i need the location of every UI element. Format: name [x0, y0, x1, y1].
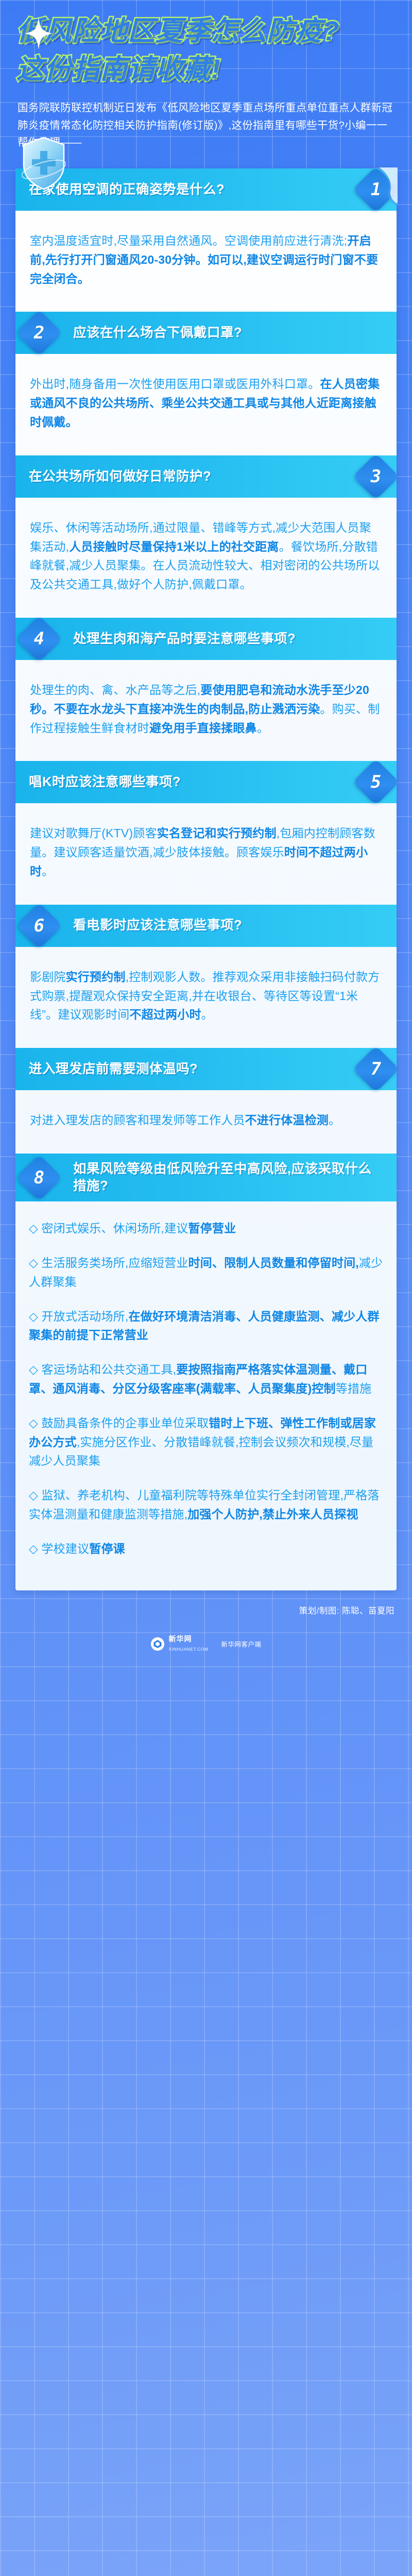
- section-1-body: 室内温度适宜时,尽量采用自然通风。空调使用前应进行清洗;开启前,先行打开门窗通风…: [15, 211, 397, 312]
- logo-subtitle: XINHUANET.COM: [169, 1647, 209, 1652]
- diamond-bullet-icon: ◇: [29, 1256, 38, 1269]
- list-item: ◇ 鼓励具备条件的企事业单位采取错时上下班、弹性工作制或居家办公方式,实施分区作…: [29, 1414, 383, 1470]
- section-7-number-badge: 7: [353, 1046, 400, 1093]
- credit-line: 策划/制图: 陈聪、苗夏阳: [0, 1604, 394, 1616]
- bullet-plain-1: 客运场站和公共交通工具,: [38, 1363, 176, 1376]
- list-item: ◇ 开放式活动场所,在做好环境清洁消毒、人员健康监测、减少人群聚集的前提下正常营…: [29, 1307, 383, 1345]
- section-4-number-badge: 4: [16, 616, 63, 663]
- section-4-body: 处理生的肉、禽、水产品等之后,要使用肥皂和流动水洗手至少20秒。不要在水龙头下直…: [15, 660, 397, 761]
- section-6-text-plain-3: 。: [201, 1008, 213, 1021]
- section-6-title: 看电影时应该注意哪些事项?: [73, 917, 242, 934]
- section-5-number: 5: [359, 766, 392, 799]
- hero-section: 低风险地区夏季怎么防疫? 这份指南请收藏! 国务院联防联控机制近日发布《低风险地…: [0, 0, 412, 151]
- section-4-title: 处理生肉和海产品时要注意哪些事项?: [73, 631, 296, 648]
- section-8-bullet-list: ◇ 密闭式娱乐、休闲场所,建议暂停营业 ◇ 生活服务类场所,应缩短营业时间、限制…: [15, 1201, 397, 1581]
- section-3-number-badge: 3: [353, 453, 400, 500]
- section-3-text-bold-1: 人员接触时尽量保持1米以上的社交距离: [69, 540, 279, 553]
- section-5-body: 建议对歌舞厅(KTV)顾客实名登记和实行预约制,包厢内控制顾客数量。建议顾客适量…: [15, 803, 397, 904]
- section-2-body: 外出时,随身备用一次性使用医用口罩或医用外科口罩。在人员密集或通风不良的公共场所…: [15, 354, 397, 455]
- list-item: ◇ 密闭式娱乐、休闲场所,建议暂停营业: [29, 1219, 383, 1238]
- section-4-text-plain-1: 处理生的肉、禽、水产品等之后,: [30, 683, 200, 697]
- section-8-number-badge: 8: [16, 1154, 63, 1201]
- section-1-header: 在家使用空调的正确姿势是什么? 1: [15, 168, 397, 211]
- xinhua-logo-icon: [151, 1637, 164, 1651]
- brand-logo-bar: 新华网 XINHUANET.COM 新华网客户端: [0, 1635, 412, 1666]
- bullet-bold-1: 加强个人防护,禁止外来人员探视: [187, 1507, 358, 1521]
- title-line-2: 这份指南请收藏!: [16, 53, 396, 87]
- diamond-bullet-icon: ◇: [29, 1542, 38, 1555]
- section-7-body: 对进入理发店的顾客和理发师等工作人员不进行体温检测。: [15, 1090, 397, 1154]
- page-curl-decoration: [357, 167, 398, 206]
- section-5: 唱K时应该注意哪些事项? 5 建议对歌舞厅(KTV)顾客实名登记和实行预约制,包…: [15, 761, 397, 904]
- section-1: 在家使用空调的正确姿势是什么? 1 室内温度适宜时,尽量采用自然通风。空调使用前…: [15, 168, 397, 312]
- bullet-bold-1: 时间、限制人员数量和停留时间,: [188, 1256, 358, 1269]
- section-2: 2 应该在什么场合下佩戴口罩? 外出时,随身备用一次性使用医用口罩或医用外科口罩…: [15, 312, 397, 455]
- xinhua-logo-text: 新华网 XINHUANET.COM: [169, 1635, 209, 1654]
- section-7-text-plain-1: 对进入理发店的顾客和理发师等工作人员: [30, 1113, 245, 1127]
- section-4-text-plain-3: 。: [257, 721, 269, 735]
- bullet-plain-1: 开放式活动场所,: [38, 1310, 129, 1323]
- section-2-header: 2 应该在什么场合下佩戴口罩?: [15, 312, 397, 354]
- footer-credit-block: 策划/制图: 陈聪、苗夏阳: [0, 1590, 412, 1621]
- content-card: 在家使用空调的正确姿势是什么? 1 室内温度适宜时,尽量采用自然通风。空调使用前…: [15, 168, 397, 1590]
- section-2-text-plain: 外出时,随身备用一次性使用医用口罩或医用外科口罩。: [30, 377, 320, 391]
- section-6-text-plain-1: 影剧院: [30, 970, 66, 984]
- bullet-plain-1: 鼓励具备条件的企事业单位采取: [38, 1416, 209, 1430]
- section-7: 进入理发店前需要测体温吗? 7 对进入理发店的顾客和理发师等工作人员不进行体温检…: [15, 1048, 397, 1154]
- section-2-title: 应该在什么场合下佩戴口罩?: [73, 325, 242, 342]
- list-item: ◇ 生活服务类场所,应缩短营业时间、限制人员数量和停留时间,减少人群聚集: [29, 1253, 383, 1292]
- section-8-title: 如果风险等级由低风险升至中高风险,应该采取什么措施?: [73, 1161, 383, 1194]
- infographic-page: 低风险地区夏季怎么防疫? 这份指南请收藏! 国务院联防联控机制近日发布《低风险地…: [0, 0, 412, 1666]
- list-item: ◇ 监狱、养老机构、儿童福利院等特殊单位实行全封闭管理,严格落实体温测量和健康监…: [29, 1486, 383, 1524]
- list-item: ◇ 学校建议暂停课: [29, 1539, 383, 1558]
- section-2-number-badge: 2: [16, 310, 63, 357]
- section-6-text-bold-2: 不超过两小时: [129, 1008, 201, 1021]
- section-7-text-plain-2: 。: [329, 1113, 340, 1127]
- section-7-number: 7: [359, 1053, 392, 1086]
- section-7-header: 进入理发店前需要测体温吗? 7: [15, 1048, 397, 1090]
- page-title: 低风险地区夏季怎么防疫? 这份指南请收藏!: [0, 14, 412, 86]
- section-3-title: 在公共场所如何做好日常防护?: [29, 468, 211, 485]
- section-6: 6 看电影时应该注意哪些事项? 影剧院实行预约制,控制观影人数。推荐观众采用非接…: [15, 905, 397, 1048]
- section-5-text-plain-3: 。: [42, 865, 54, 878]
- app-name-label: 新华网客户端: [221, 1639, 261, 1649]
- intro-paragraph: 国务院联防联控机制近日发布《低风险地区夏季重点场所重点单位重点人群新冠肺炎疫情常…: [18, 99, 394, 151]
- section-2-number: 2: [23, 316, 56, 349]
- bullet-plain-1: 生活服务类场所,应缩短营业: [38, 1256, 188, 1269]
- section-8-number: 8: [23, 1161, 56, 1194]
- diamond-bullet-icon: ◇: [29, 1363, 38, 1376]
- section-7-text-bold-1: 不进行体温检测: [245, 1113, 329, 1127]
- section-6-header: 6 看电影时应该注意哪些事项?: [15, 905, 397, 947]
- logo-name: 新华网: [169, 1635, 192, 1643]
- section-3-body: 娱乐、休闲等活动场所,通过限量、错峰等方式,减少大范围人员聚集活动,人员接触时尽…: [15, 498, 397, 618]
- section-5-number-badge: 5: [353, 759, 400, 806]
- title-line-1: 低风险地区夏季怎么防疫?: [16, 14, 396, 48]
- section-3-number: 3: [359, 460, 392, 493]
- diamond-bullet-icon: ◇: [29, 1416, 38, 1430]
- section-6-number: 6: [23, 909, 56, 942]
- bullet-plain-1: 学校建议: [38, 1542, 89, 1555]
- section-4-number: 4: [23, 622, 56, 655]
- section-3-header: 在公共场所如何做好日常防护? 3: [15, 455, 397, 498]
- diamond-bullet-icon: ◇: [29, 1488, 38, 1502]
- list-item: ◇ 客运场站和公共交通工具,要按照指南严格落实体温测量、戴口罩、通风消毒、分区分…: [29, 1360, 383, 1398]
- section-5-header: 唱K时应该注意哪些事项? 5: [15, 761, 397, 803]
- section-8: 8 如果风险等级由低风险升至中高风险,应该采取什么措施? ◇ 密闭式娱乐、休闲场…: [15, 1154, 397, 1581]
- section-4-header: 4 处理生肉和海产品时要注意哪些事项?: [15, 618, 397, 660]
- section-5-text-plain-1: 建议对歌舞厅(KTV)顾客: [30, 826, 157, 840]
- bullet-bold-1: 暂停课: [89, 1542, 125, 1555]
- shield-icon: [22, 137, 66, 190]
- section-6-text-bold-1: 实行预约制: [66, 970, 126, 984]
- section-5-title: 唱K时应该注意哪些事项?: [29, 774, 181, 791]
- bullet-plain-2: 等措施: [336, 1382, 372, 1395]
- section-4: 4 处理生肉和海产品时要注意哪些事项? 处理生的肉、禽、水产品等之后,要使用肥皂…: [15, 618, 397, 761]
- bullet-bold-1: 暂停营业: [188, 1222, 236, 1235]
- section-6-body: 影剧院实行预约制,控制观影人数。推荐观众采用非接触扫码付款方式购票,提醒观众保持…: [15, 947, 397, 1048]
- bullet-plain-2: ,实施分区作业、分散错峰就餐,控制会议频次和规模,尽量减少人员聚集: [29, 1435, 373, 1468]
- section-7-title: 进入理发店前需要测体温吗?: [29, 1061, 198, 1078]
- diamond-bullet-icon: ◇: [29, 1310, 38, 1323]
- section-4-text-bold-2: 避免用手直接揉眼鼻: [149, 721, 257, 735]
- section-1-text-plain: 室内温度适宜时,尽量采用自然通风。空调使用前应进行清洗;: [30, 234, 347, 247]
- section-5-text-bold-1: 实名登记和实行预约制: [157, 826, 277, 840]
- section-8-header: 8 如果风险等级由低风险升至中高风险,应该采取什么措施?: [15, 1154, 397, 1201]
- bullet-plain-1: 密闭式娱乐、休闲场所,建议: [38, 1222, 188, 1235]
- section-3: 在公共场所如何做好日常防护? 3 娱乐、休闲等活动场所,通过限量、错峰等方式,减…: [15, 455, 397, 618]
- section-6-number-badge: 6: [16, 903, 63, 950]
- diamond-bullet-icon: ◇: [29, 1222, 38, 1235]
